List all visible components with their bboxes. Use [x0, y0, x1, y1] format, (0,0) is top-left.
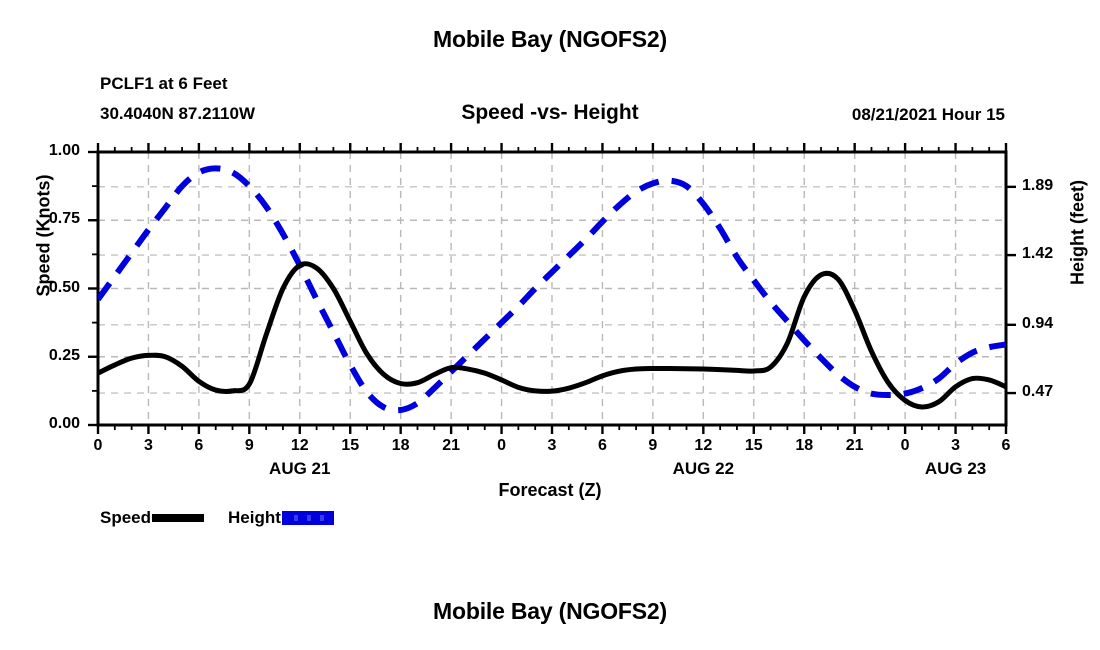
x-axis-day-label: AUG 23 [896, 459, 1016, 479]
legend-label-speed: Speed [100, 508, 151, 528]
x-tick-label: 9 [229, 437, 269, 455]
x-tick-label: 21 [431, 437, 471, 455]
x-tick-label: 6 [986, 437, 1026, 455]
y-tick-label-right: 1.89 [1022, 177, 1082, 195]
x-tick-label: 9 [633, 437, 673, 455]
x-tick-label: 3 [532, 437, 572, 455]
y-tick-label-left: 0.25 [26, 347, 80, 365]
x-tick-label: 3 [128, 437, 168, 455]
x-tick-label: 12 [683, 437, 723, 455]
x-tick-label: 0 [78, 437, 118, 455]
x-tick-label: 15 [330, 437, 370, 455]
x-tick-label: 21 [835, 437, 875, 455]
y-tick-label-right: 1.42 [1022, 245, 1082, 263]
y-tick-label-left: 1.00 [26, 142, 80, 160]
chart-legend: Speed Height [100, 505, 334, 531]
x-axis-day-label: AUG 21 [240, 459, 360, 479]
y-tick-label-right: 0.94 [1022, 315, 1082, 333]
legend-item-speed: Speed [100, 508, 228, 528]
legend-label-height: Height [228, 508, 281, 528]
y-tick-label-right: 0.47 [1022, 383, 1082, 401]
x-tick-label: 0 [885, 437, 925, 455]
legend-swatch-speed-icon [152, 514, 204, 522]
y-tick-label-left: 0.00 [26, 415, 80, 433]
x-tick-label: 3 [936, 437, 976, 455]
legend-swatch-height-icon [282, 511, 334, 525]
legend-item-height: Height [228, 508, 334, 528]
x-axis-day-label: AUG 22 [643, 459, 763, 479]
page-title-bottom: Mobile Bay (NGOFS2) [0, 598, 1100, 625]
y-tick-label-left: 0.75 [26, 210, 80, 228]
x-tick-label: 0 [482, 437, 522, 455]
x-tick-label: 6 [582, 437, 622, 455]
x-tick-label: 15 [734, 437, 774, 455]
x-tick-label: 12 [280, 437, 320, 455]
chart-page: Mobile Bay (NGOFS2) PCLF1 at 6 Feet 30.4… [0, 0, 1100, 650]
x-tick-label: 18 [381, 437, 421, 455]
x-tick-label: 18 [784, 437, 824, 455]
y-tick-label-left: 0.50 [26, 279, 80, 297]
plot-area [0, 0, 1100, 650]
x-tick-label: 6 [179, 437, 219, 455]
